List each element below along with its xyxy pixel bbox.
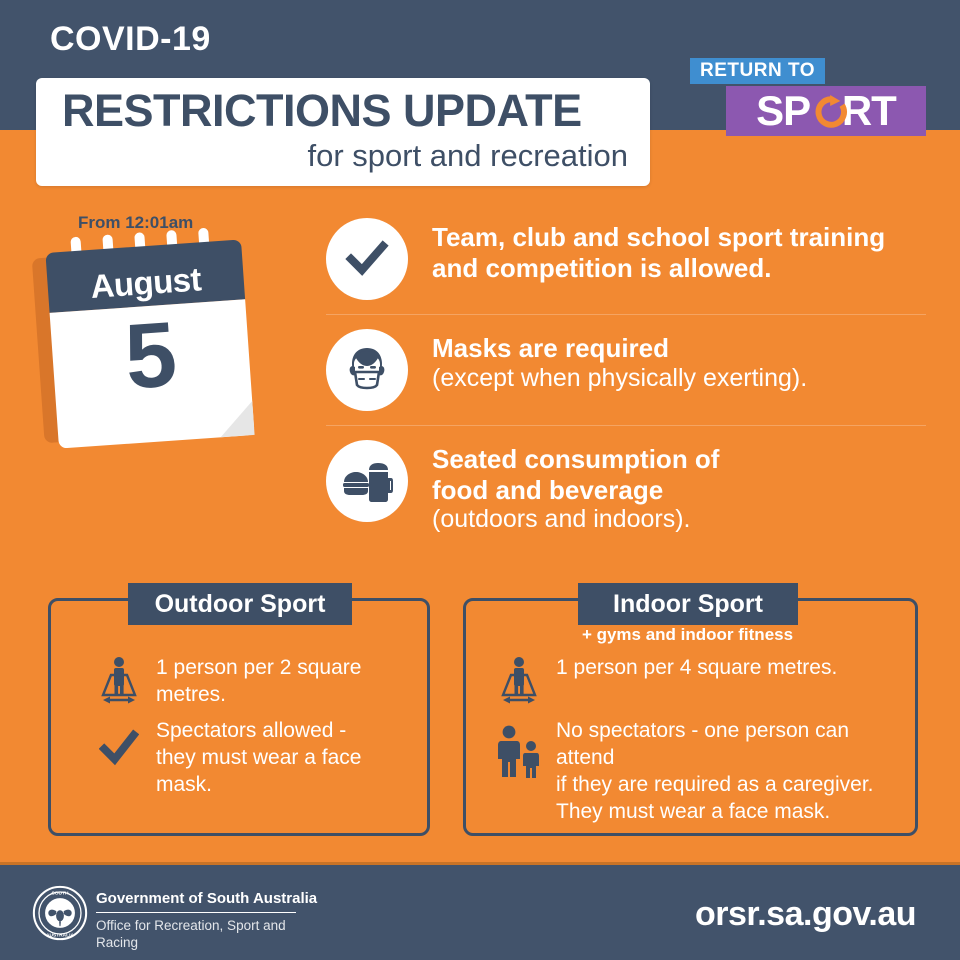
outdoor-density-line-1: 1 person per 2 square metres. [156, 655, 422, 709]
bi-icon-wrap [92, 655, 146, 705]
return-to-label: RETURN TO [690, 58, 825, 84]
check-mark-icon [344, 236, 390, 282]
indoor-density-line-1: 1 person per 4 square metres. [556, 655, 837, 682]
circular-arrow-icon [814, 95, 848, 129]
svg-text:AUSTRALIA: AUSTRALIA [46, 932, 74, 938]
calendar-page-fold [218, 401, 254, 437]
calendar-day: 5 [50, 303, 252, 408]
rule-item-food: Seated consumption of food and beverage … [326, 440, 926, 535]
south-australia-crest-icon: SOUTH AUSTRALIA [32, 885, 88, 941]
rule-text: Team, club and school sport training and… [432, 218, 885, 283]
infographic-page: COVID-19 RESTRICTIONS UPDATE for sport a… [0, 0, 960, 960]
calendar-graphic: From 12:01am August 5 [30, 210, 300, 460]
outdoor-spectators-line-1: Spectators allowed - [156, 718, 422, 745]
bi-icon-wrap [92, 718, 146, 768]
rules-list: Team, club and school sport training and… [326, 218, 926, 535]
rule-icon-badge [326, 440, 408, 522]
rule-text: Seated consumption of food and beverage … [432, 440, 719, 535]
indoor-spectators-line-3: They must wear a face mask. [556, 799, 912, 826]
svg-text:SOUTH: SOUTH [52, 890, 69, 896]
indoor-spectators-item: No spectators - one person can attend if… [492, 718, 912, 826]
outdoor-sport-box [48, 598, 430, 836]
return-to-sport-logo: RETURN TO SPORT [690, 58, 930, 142]
calendar-sheet: 5 [50, 299, 255, 448]
outdoor-spectators-line-2: they must wear a face mask. [156, 745, 422, 799]
food-and-drink-icon [341, 456, 393, 506]
person-density-icon [95, 655, 143, 705]
covid-eyebrow-label: COVID-19 [50, 22, 211, 56]
outdoor-spectators-text: Spectators allowed - they must wear a fa… [156, 718, 422, 799]
check-mark-icon [99, 728, 139, 768]
rule-strong-line-2: and competition is allowed. [432, 253, 885, 284]
indoor-spectators-line-2: if they are required as a caregiver. [556, 772, 912, 799]
rule-light-line: (outdoors and indoors). [432, 505, 719, 535]
outdoor-density-text: 1 person per 2 square metres. [156, 655, 422, 709]
rule-divider [326, 314, 926, 315]
bi-icon-wrap [492, 718, 546, 780]
sport-word-before: SP [756, 87, 810, 134]
office-name: Office for Recreation, Sport and Racing [96, 917, 326, 952]
indoor-spectators-text: No spectators - one person can attend if… [556, 718, 912, 826]
rule-strong-line-1: Team, club and school sport training [432, 222, 885, 253]
rule-icon-badge [326, 329, 408, 411]
title-card: RESTRICTIONS UPDATE for sport and recrea… [36, 78, 650, 186]
rule-text: Masks are required (except when physical… [432, 329, 807, 393]
rule-item-masks: Masks are required (except when physical… [326, 329, 926, 411]
rule-strong-line-2: food and beverage [432, 475, 719, 506]
page-title: RESTRICTIONS UPDATE [62, 87, 582, 134]
indoor-sport-tab: Indoor Sport [578, 583, 798, 625]
indoor-spectators-line-1: No spectators - one person can attend [556, 718, 912, 772]
adult-and-child-icon [493, 724, 545, 780]
indoor-sport-subtitle: + gyms and indoor fitness [463, 625, 912, 645]
rule-item-training: Team, club and school sport training and… [326, 218, 926, 300]
calendar-card: August 5 [45, 239, 254, 448]
face-mask-icon [341, 344, 393, 396]
government-separator [96, 912, 296, 913]
bi-icon-wrap [492, 655, 546, 705]
rule-divider [326, 425, 926, 426]
rule-strong-line-1: Seated consumption of [432, 444, 719, 475]
sport-wordmark-panel: SPORT [726, 86, 926, 136]
sport-word-after: RT [842, 87, 896, 134]
calendar-month: August [47, 259, 245, 306]
person-density-icon [495, 655, 543, 705]
calendar-from-label: From 12:01am [78, 214, 193, 231]
rule-icon-badge [326, 218, 408, 300]
outdoor-sport-tab: Outdoor Sport [128, 583, 352, 625]
outdoor-spectators-item: Spectators allowed - they must wear a fa… [92, 718, 422, 799]
outdoor-density-item: 1 person per 2 square metres. [92, 655, 422, 709]
government-branding: Government of South Australia Office for… [96, 889, 326, 952]
indoor-density-text: 1 person per 4 square metres. [556, 655, 837, 682]
government-name: Government of South Australia [96, 889, 326, 909]
page-subtitle: for sport and recreation [307, 140, 628, 171]
indoor-density-item: 1 person per 4 square metres. [492, 655, 912, 705]
rule-strong-line-1: Masks are required [432, 333, 807, 364]
rule-light-line: (except when physically exerting). [432, 364, 807, 394]
website-url[interactable]: orsr.sa.gov.au [695, 895, 916, 934]
